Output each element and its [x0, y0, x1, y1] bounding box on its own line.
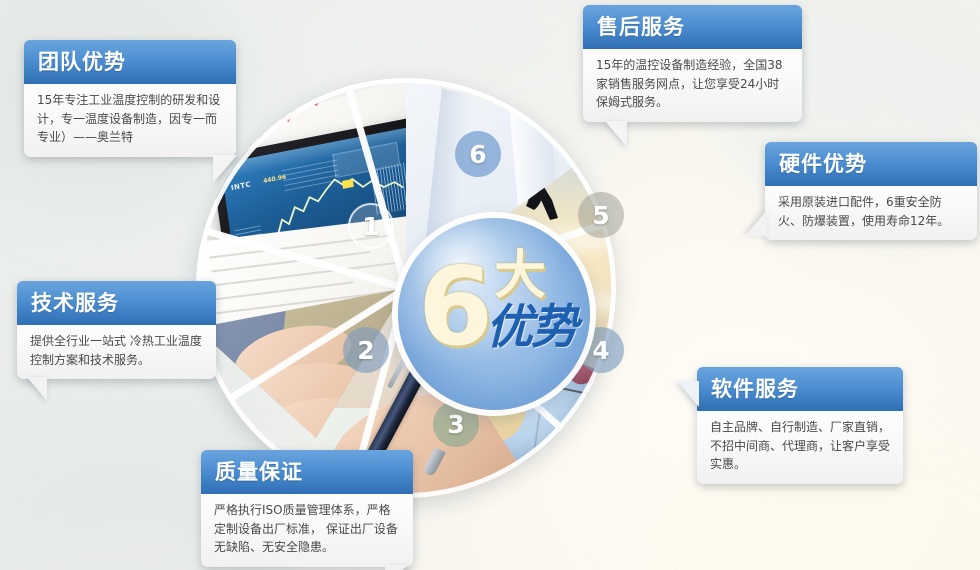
- center-badge: 6 大 优势: [398, 218, 590, 410]
- center-number-six: 6: [418, 254, 493, 362]
- callout-tail-tech: [27, 377, 47, 401]
- callout-card-team[interactable]: 团队优势 15年专注工业温度控制的研发和设计，专一温度设备制造，因专一而专业）—…: [24, 40, 236, 157]
- callout-card-after-sales[interactable]: 售后服务 15年的温控设备制造经验，全国38家销售服务网点，让您享受24小时保姆…: [583, 5, 802, 122]
- callout-tail-after-sales: [605, 121, 627, 147]
- segment-number-1[interactable]: 1: [348, 203, 394, 249]
- segment-number-5[interactable]: 5: [578, 192, 624, 238]
- card-title-quality: 质量保证: [201, 450, 413, 494]
- center-char-da: 大: [494, 250, 546, 302]
- segment-number-2[interactable]: 2: [343, 327, 389, 373]
- card-body-hardware: 采用原装进口配件，6重安全防火、防爆装置，使用寿命12年。: [765, 186, 977, 240]
- card-title-software: 软件服务: [697, 367, 903, 411]
- card-title-team: 团队优势: [24, 40, 236, 84]
- card-body-after-sales: 15年的温控设备制造经验，全国38家销售服务网点，让您享受24小时保姆式服务。: [583, 49, 802, 122]
- callout-card-quality[interactable]: 质量保证 严格执行ISO质量管理体系，严格定制设备出厂标准， 保证出厂设备无缺陷…: [201, 450, 413, 567]
- card-title-tech: 技术服务: [17, 281, 216, 325]
- card-body-software: 自主品牌、自行制造、厂家直销，不招中间商、代理商，让客户享受实惠。: [697, 411, 903, 484]
- callout-card-tech[interactable]: 技术服务 提供全行业一站式 冷热工业温度控制方案和技术服务。: [17, 281, 216, 379]
- card-body-team: 15年专注工业温度控制的研发和设计，专一温度设备制造，因专一而专业）——奥兰特: [24, 84, 236, 157]
- segment-number-6[interactable]: 6: [455, 131, 501, 177]
- card-title-after-sales: 售后服务: [583, 5, 802, 49]
- callout-tail-team: [213, 155, 237, 183]
- callout-card-software[interactable]: 软件服务 自主品牌、自行制造、厂家直销，不招中间商、代理商，让客户享受实惠。: [697, 367, 903, 484]
- segment-number-3[interactable]: 3: [433, 401, 479, 447]
- infographic-canvas: INTC 440.96: [0, 0, 980, 570]
- center-script-youshi: 优势: [486, 304, 576, 351]
- card-title-hardware: 硬件优势: [765, 142, 977, 186]
- card-body-quality: 严格执行ISO质量管理体系，严格定制设备出厂标准， 保证出厂设备无缺陷、无安全隐…: [201, 494, 413, 567]
- callout-tail-hardware: [745, 210, 767, 236]
- callout-tail-software: [677, 381, 699, 407]
- callout-tail-quality: [385, 565, 407, 570]
- card-body-tech: 提供全行业一站式 冷热工业温度控制方案和技术服务。: [17, 325, 216, 379]
- callout-card-hardware[interactable]: 硬件优势 采用原装进口配件，6重安全防火、防爆装置，使用寿命12年。: [765, 142, 977, 240]
